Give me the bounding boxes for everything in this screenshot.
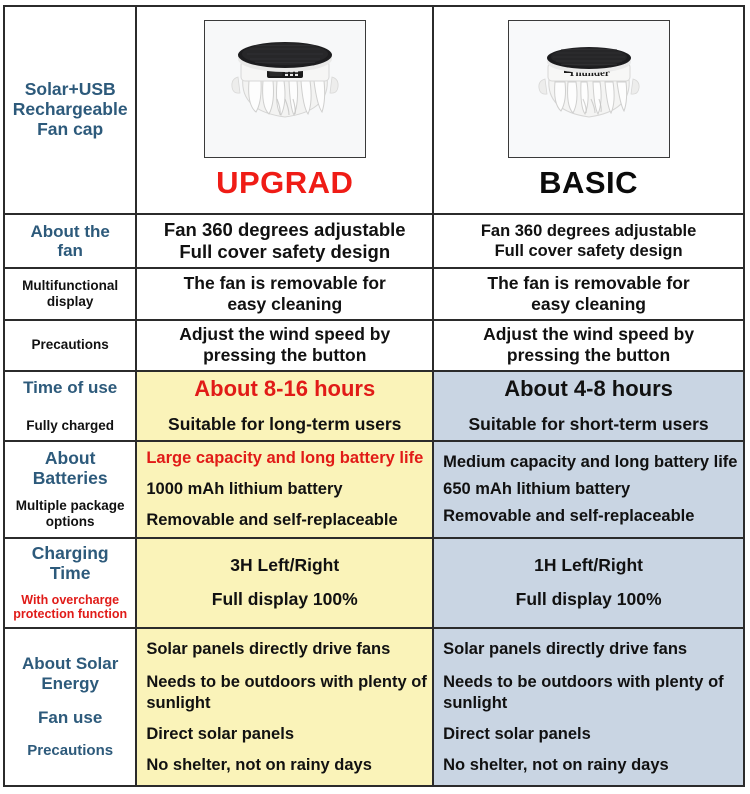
value-line: No shelter, not on rainy days <box>443 755 743 775</box>
value-line: Fan 360 degrees adjustable <box>137 219 432 242</box>
solar-fan-cap-basic-illustration: Thunder <box>509 21 669 157</box>
value-line: Needs to be outdoors with plenty of sunl… <box>146 672 432 712</box>
basic-time-of-use: About 4-8 hours Suitable for short-term … <box>433 371 744 441</box>
row-label-charging-time: Charging Time With overcharge protection… <box>4 538 136 628</box>
value-headline: About 8-16 hours <box>137 376 432 403</box>
table-row-about-the-fan: About the fan Fan 360 degrees adjustable… <box>4 214 744 268</box>
value-line: Fan 360 degrees adjustable <box>434 221 743 241</box>
upgrade-about-the-fan: Fan 360 degrees adjustable Full cover sa… <box>136 214 433 268</box>
row-label-line2: Energy <box>5 674 135 693</box>
row-label-line1: About the <box>5 222 135 241</box>
value-line: Suitable for long-term users <box>137 414 432 435</box>
row-label-sub: Fully charged <box>5 418 135 434</box>
value-line: easy cleaning <box>137 294 432 315</box>
basic-about-the-fan: Fan 360 degrees adjustable Full cover sa… <box>433 214 744 268</box>
header-label-line3: Fan cap <box>5 120 135 140</box>
upgrade-removable-fan: The fan is removable for easy cleaning <box>136 268 433 319</box>
value-line: Medium capacity and long battery life <box>443 452 743 472</box>
value-line: pressing the button <box>434 345 743 366</box>
basic-product-cell: Thunder BASIC <box>433 6 744 214</box>
value-line: Solar panels directly drive fans <box>443 639 743 659</box>
upgrade-charging-time: 3H Left/Right Full display 100% <box>136 538 433 628</box>
row-label-line1: About Solar <box>5 654 135 673</box>
basic-product-name: BASIC <box>434 167 743 200</box>
value-line: pressing the button <box>137 345 432 366</box>
row-label: Precautions <box>5 337 135 353</box>
table-row-time-of-use: Time of use Fully charged About 8-16 hou… <box>4 371 744 441</box>
row-label-about-batteries: About Batteries Multiple package options <box>4 441 136 538</box>
row-label-line2: Batteries <box>5 469 135 489</box>
upgrade-product-cell: UPGRAD <box>136 6 433 214</box>
value-line: 1000 mAh lithium battery <box>146 479 432 499</box>
row-label-line2: fan <box>5 241 135 260</box>
value-line: 650 mAh lithium battery <box>443 479 743 499</box>
comparison-infographic: Solar+USB Rechargeable Fan cap <box>0 0 750 794</box>
upgrade-product-image <box>204 20 366 158</box>
value-line: Direct solar panels <box>443 724 743 744</box>
table-row-precautions-fan: Precautions Adjust the wind speed by pre… <box>4 320 744 371</box>
header-label-line2: Rechargeable <box>5 100 135 120</box>
solar-fan-cap-upgraded-illustration <box>205 21 365 157</box>
upgrade-solar-energy: Solar panels directly drive fans Needs t… <box>136 628 433 786</box>
row-label-precautions-fan: Precautions <box>4 320 136 371</box>
upgrade-product-name: UPGRAD <box>137 167 432 200</box>
row-label-main: Time of use <box>5 378 135 397</box>
value-line: Full display 100% <box>434 589 743 610</box>
basic-solar-energy: Solar panels directly drive fans Needs t… <box>433 628 744 786</box>
row-label-time-of-use: Time of use Fully charged <box>4 371 136 441</box>
upgrade-batteries: Large capacity and long battery life 100… <box>136 441 433 538</box>
value-line: Removable and self-replaceable <box>146 510 432 530</box>
value-line: Suitable for short-term users <box>434 414 743 435</box>
row-label-line1: Multifunctional <box>5 278 135 294</box>
basic-batteries: Medium capacity and long battery life 65… <box>433 441 744 538</box>
value-line: easy cleaning <box>434 294 743 315</box>
value-line: Removable and self-replaceable <box>443 506 743 526</box>
row-label-sub-line2: protection function <box>5 607 135 621</box>
value-line: Adjust the wind speed by <box>137 324 432 345</box>
value-line: Adjust the wind speed by <box>434 324 743 345</box>
upgrade-wind-speed: Adjust the wind speed by pressing the bu… <box>136 320 433 371</box>
table-row-multifunctional-display: Multifunctional display The fan is remov… <box>4 268 744 319</box>
row-label-about-solar-energy: About Solar Energy Fan use Precautions <box>4 628 136 786</box>
table-row-charging-time: Charging Time With overcharge protection… <box>4 538 744 628</box>
basic-product-image: Thunder <box>508 20 670 158</box>
basic-removable-fan: The fan is removable for easy cleaning <box>433 268 744 319</box>
row-label-sub-line1: Multiple package <box>5 498 135 514</box>
row-label-line2: display <box>5 294 135 310</box>
basic-charging-time: 1H Left/Right Full display 100% <box>433 538 744 628</box>
product-comparison-table: Solar+USB Rechargeable Fan cap <box>3 5 745 787</box>
value-line: 1H Left/Right <box>434 555 743 576</box>
value-line: Direct solar panels <box>146 724 432 744</box>
value-line: The fan is removable for <box>137 273 432 294</box>
row-label-line1: Charging <box>5 544 135 564</box>
value-line: Solar panels directly drive fans <box>146 639 432 659</box>
row-label-line1: About <box>5 449 135 469</box>
value-headline: About 4-8 hours <box>434 376 743 403</box>
row-label-sub-line2: options <box>5 514 135 530</box>
value-line: Full display 100% <box>137 589 432 610</box>
table-row-about-solar-energy: About Solar Energy Fan use Precautions S… <box>4 628 744 786</box>
row-label-sub: Precautions <box>5 742 135 759</box>
row-label-about-the-fan: About the fan <box>4 214 136 268</box>
table-row-header: Solar+USB Rechargeable Fan cap <box>4 6 744 214</box>
value-line: Large capacity and long battery life <box>146 448 432 468</box>
row-label-line3: Fan use <box>5 708 135 727</box>
row-label-multifunctional-display: Multifunctional display <box>4 268 136 319</box>
header-label-line1: Solar+USB <box>5 80 135 100</box>
value-line: Full cover safety design <box>434 241 743 261</box>
value-line: Full cover safety design <box>137 241 432 264</box>
table-row-about-batteries: About Batteries Multiple package options… <box>4 441 744 538</box>
basic-wind-speed: Adjust the wind speed by pressing the bu… <box>433 320 744 371</box>
row-label-line2: Time <box>5 564 135 584</box>
value-line: Needs to be outdoors with plenty of sunl… <box>443 672 743 712</box>
value-line: 3H Left/Right <box>137 555 432 576</box>
value-line: No shelter, not on rainy days <box>146 755 432 775</box>
row-label-sub-line1: With overcharge <box>5 593 135 607</box>
upgrade-time-of-use: About 8-16 hours Suitable for long-term … <box>136 371 433 441</box>
header-row-label-cell: Solar+USB Rechargeable Fan cap <box>4 6 136 214</box>
value-line: The fan is removable for <box>434 273 743 294</box>
